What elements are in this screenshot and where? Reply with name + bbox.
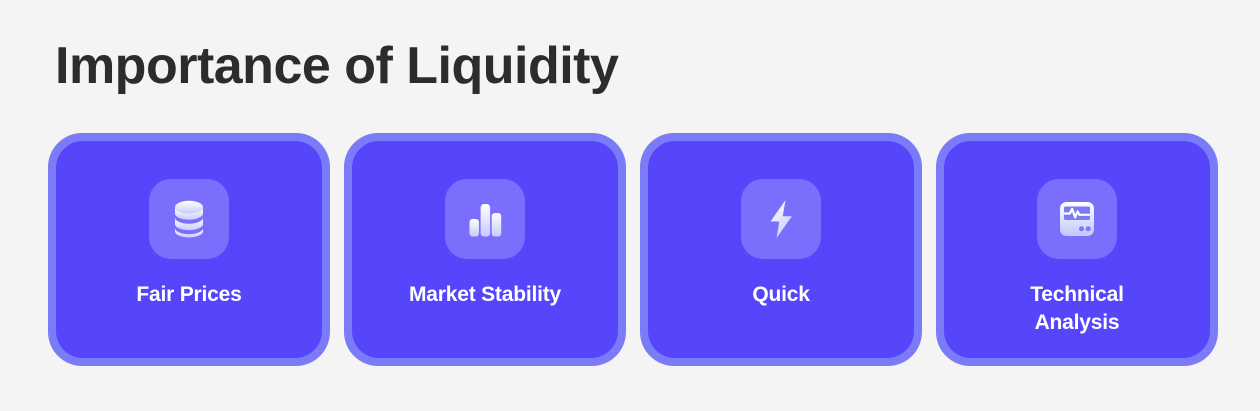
lightning-bolt-icon	[741, 179, 821, 259]
feature-cards-row: Fair Prices	[48, 133, 1218, 366]
feature-card-technical-analysis[interactable]: Technical Analysis	[936, 133, 1218, 366]
card-body: Technical Analysis	[944, 141, 1210, 358]
card-label: Technical Analysis	[1020, 281, 1134, 336]
bar-chart-icon	[445, 179, 525, 259]
card-label: Fair Prices	[126, 281, 251, 309]
liquidity-infographic: Importance of Liquidity	[0, 0, 1260, 411]
card-body: Quick	[648, 141, 914, 358]
feature-card-market-stability[interactable]: Market Stability	[344, 133, 626, 366]
monitor-waveform-icon	[1037, 179, 1117, 259]
page-title: Importance of Liquidity	[55, 38, 618, 95]
card-label: Market Stability	[399, 281, 571, 309]
card-label: Quick	[742, 281, 819, 309]
database-icon	[149, 179, 229, 259]
feature-card-quick[interactable]: Quick	[640, 133, 922, 366]
card-body: Market Stability	[352, 141, 618, 358]
feature-card-fair-prices[interactable]: Fair Prices	[48, 133, 330, 366]
card-body: Fair Prices	[56, 141, 322, 358]
